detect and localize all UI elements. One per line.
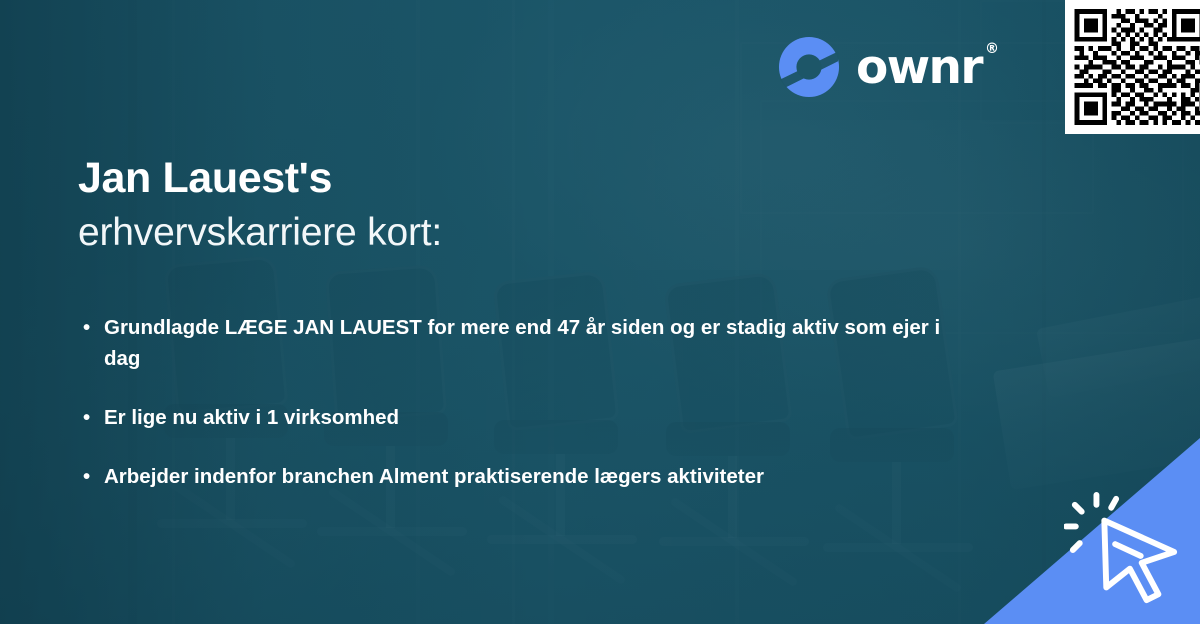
subtitle-heading: erhvervskarriere kort: [78,210,442,256]
bullet-marker-icon: • [83,312,90,343]
list-item: •Grundlagde LÆGE JAN LAUEST for mere end… [80,312,980,374]
bullet-marker-icon: • [83,461,90,492]
bullet-marker-icon: • [83,402,90,433]
person-name-heading: Jan Lauest's [78,154,442,204]
card-content: ownr® Jan Lauest's erhvervskarriere kort… [0,0,1200,624]
list-item-label: Arbejder indenfor branchen Alment prakti… [104,465,764,488]
ownr-wordmark-text: ownr [856,40,982,95]
list-item: •Arbejder indenfor branchen Alment prakt… [80,461,980,492]
ownr-circle-swirl-icon [778,36,840,98]
ownr-wordmark: ownr® [856,44,982,91]
business-career-card: ownr® Jan Lauest's erhvervskarriere kort… [0,0,1200,624]
mouse-click-cursor-icon [1064,492,1182,610]
page-title: Jan Lauest's erhvervskarriere kort: [78,154,442,256]
list-item-label: Grundlagde LÆGE JAN LAUEST for mere end … [104,316,940,370]
qr-code[interactable] [1065,0,1200,134]
ownr-brand-logo[interactable]: ownr® [778,36,982,98]
list-item: •Er lige nu aktiv i 1 virksomhed [80,402,980,433]
registered-trademark-symbol: ® [985,42,999,56]
qr-code-matrix [1065,0,1200,134]
list-item-label: Er lige nu aktiv i 1 virksomhed [104,406,399,429]
career-facts-list: •Grundlagde LÆGE JAN LAUEST for mere end… [80,312,980,493]
